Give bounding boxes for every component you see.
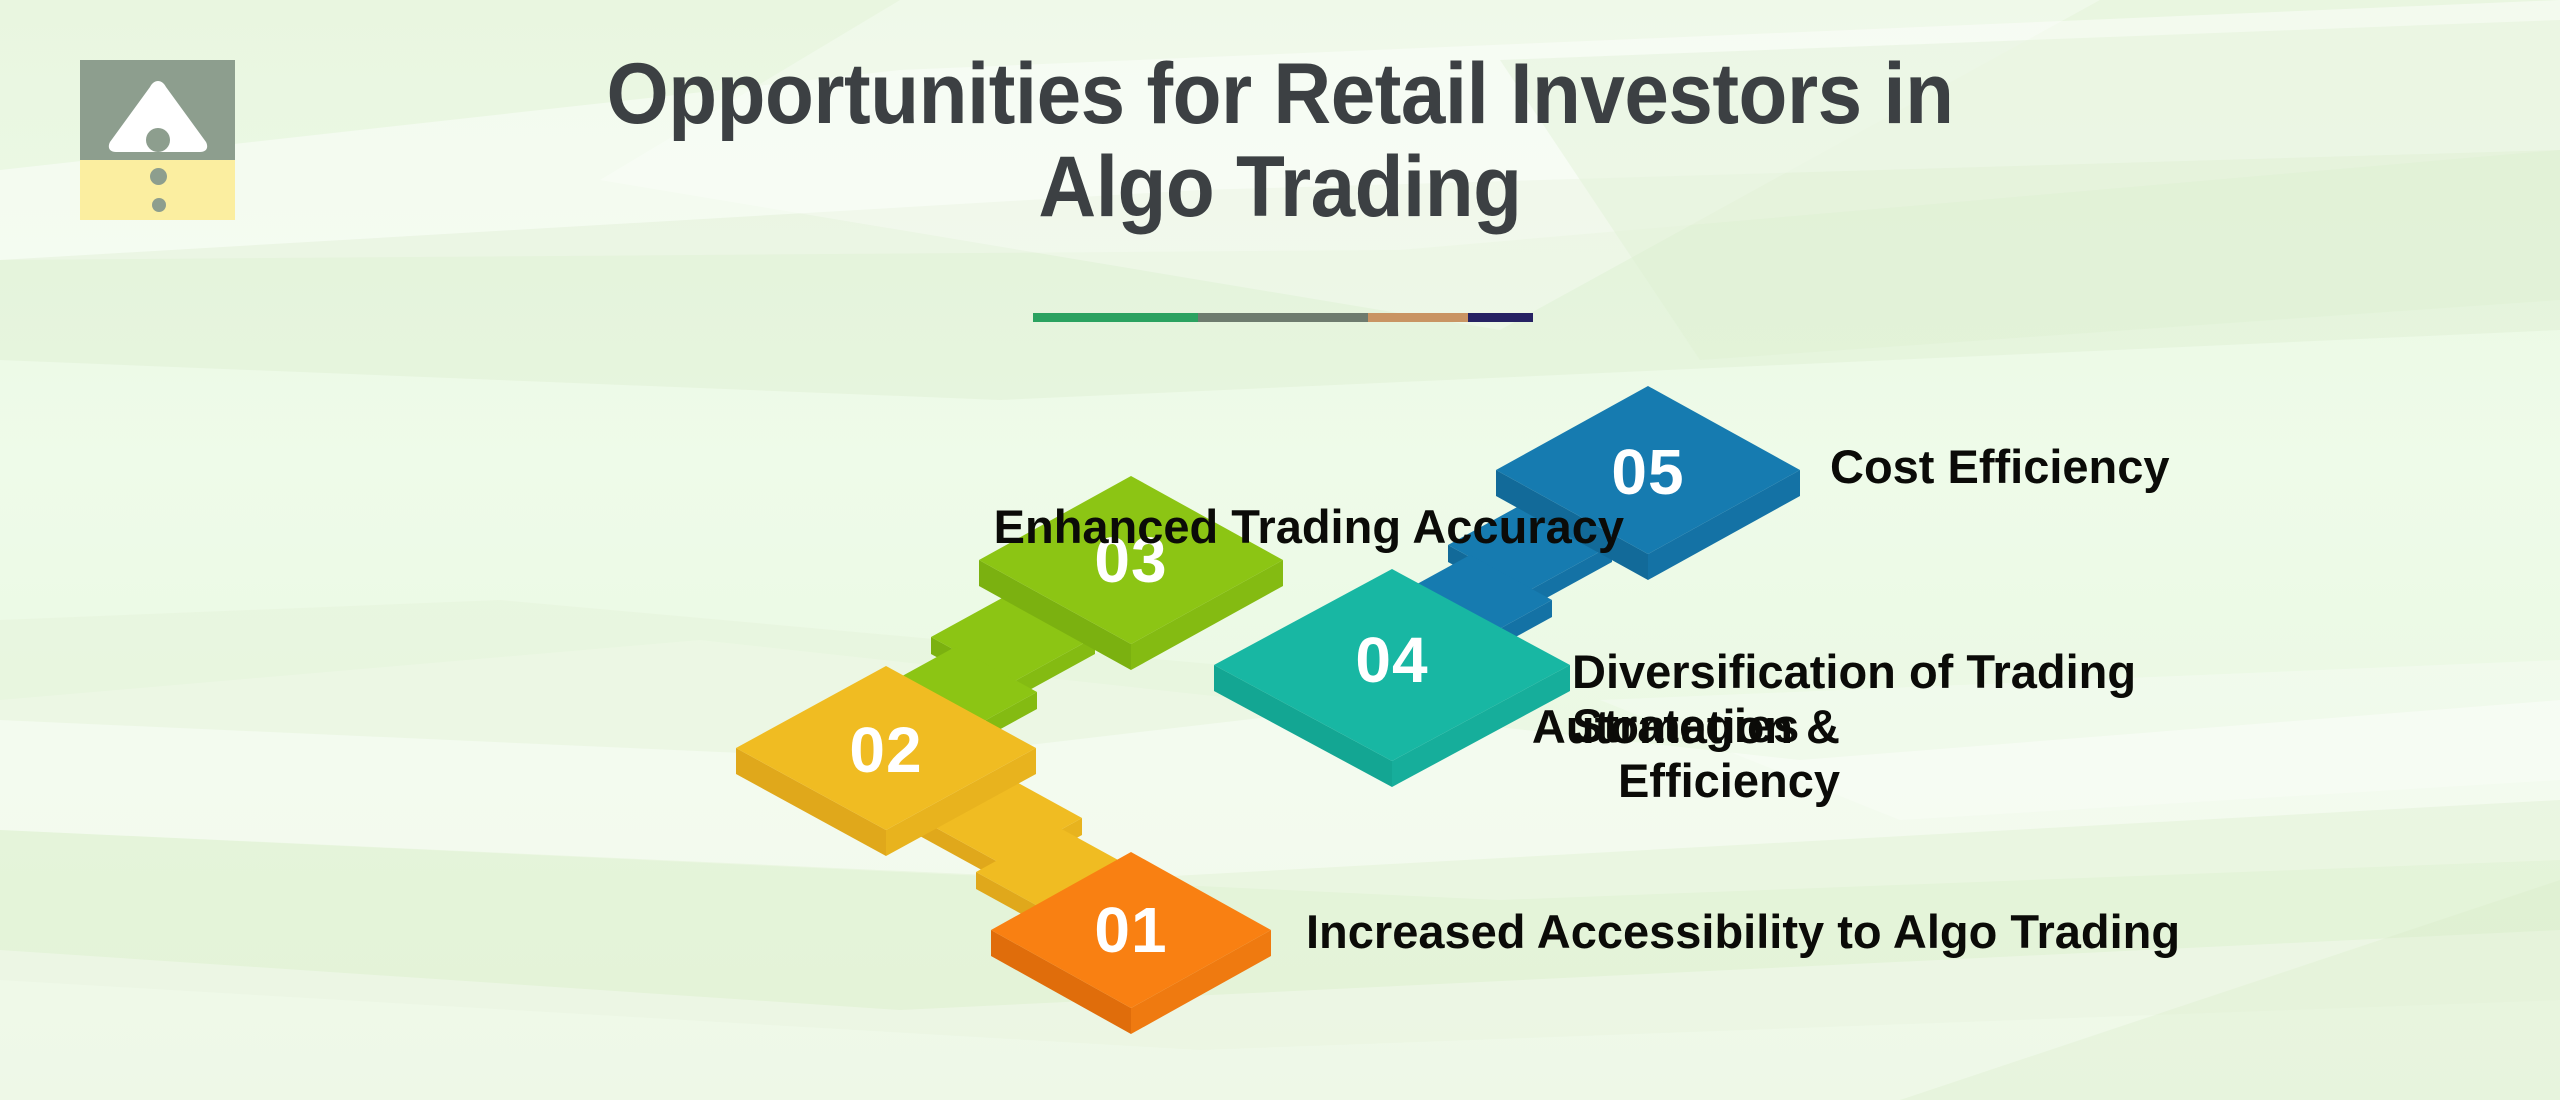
logo-dot-secondary bbox=[150, 168, 167, 185]
logo-dot-primary bbox=[146, 128, 170, 152]
brand-logo bbox=[80, 60, 235, 220]
step-label-01: Increased Accessibility to Algo Trading bbox=[1306, 905, 2406, 959]
logo-dot-tertiary bbox=[152, 198, 166, 212]
page-title-line-1: Opportunities for Retail Investors in bbox=[90, 48, 2471, 141]
step-number-01: 01 bbox=[1094, 893, 1167, 967]
title-underline-rule bbox=[1033, 313, 1533, 322]
green-segment bbox=[1033, 313, 1198, 322]
page-title: Opportunities for Retail Investors in Al… bbox=[0, 48, 2560, 234]
step-number-02: 02 bbox=[849, 713, 922, 787]
step-label-05: Cost Efficiency bbox=[1830, 440, 2450, 494]
infographic-canvas: Opportunities for Retail Investors in Al… bbox=[0, 0, 2560, 1100]
gray-segment bbox=[1198, 313, 1368, 322]
step-number-05: 05 bbox=[1611, 435, 1684, 509]
step-label-04: Diversification of Trading Strategies bbox=[1572, 645, 2332, 752]
navy-segment bbox=[1468, 313, 1533, 322]
tan-segment bbox=[1368, 313, 1468, 322]
step-label-03: Enhanced Trading Accuracy bbox=[864, 500, 1624, 554]
page-title-line-2: Algo Trading bbox=[90, 141, 2471, 234]
step-number-04: 04 bbox=[1355, 623, 1428, 697]
